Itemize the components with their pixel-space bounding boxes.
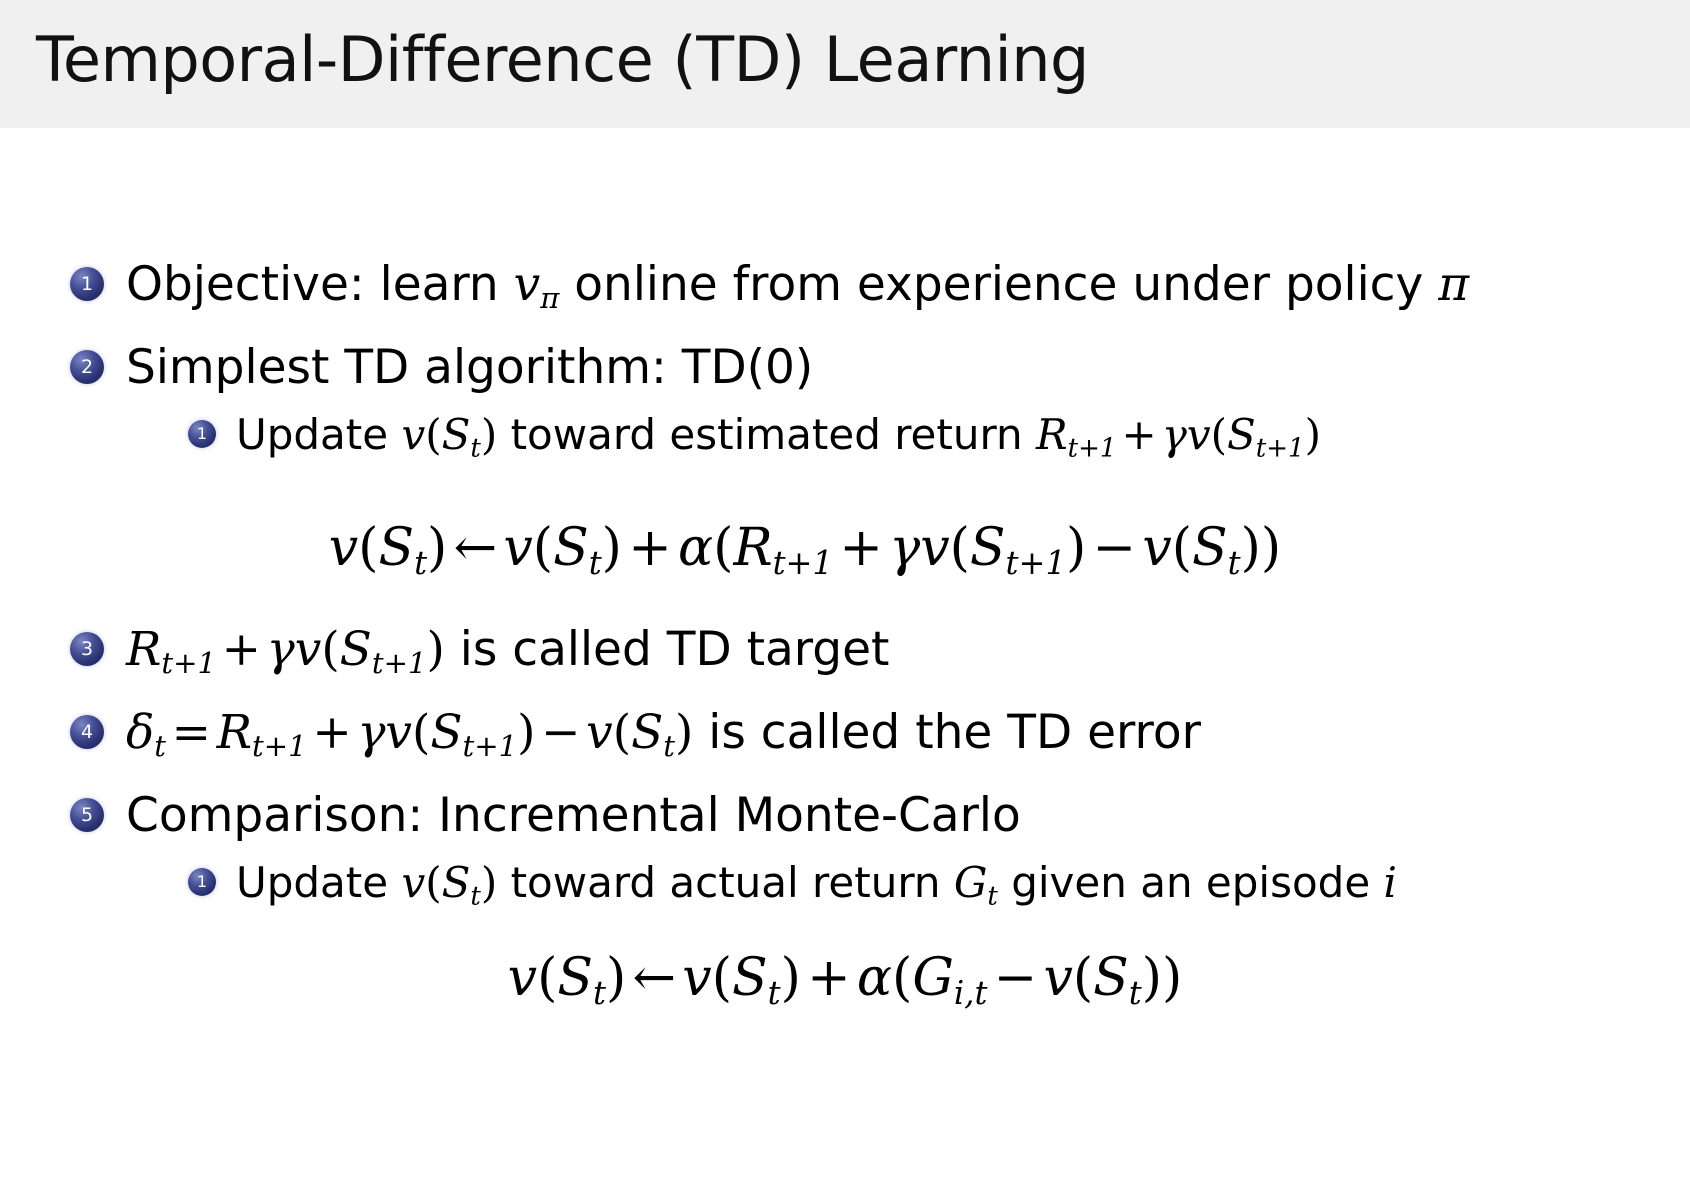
bullet-marker-sub-1: 1 bbox=[188, 420, 216, 448]
math-td-target: Rt+1+γv(St+1) bbox=[126, 622, 445, 677]
list-item-text: Simplest TD algorithm: TD(0) bbox=[126, 336, 813, 400]
text-segment: Objective: learn bbox=[126, 257, 514, 312]
bullet-marker-2: 2 bbox=[70, 350, 104, 384]
list-item-text: δt=Rt+1+γv(St+1)−v(St) is called the TD … bbox=[126, 701, 1201, 778]
math-gt: Gt bbox=[954, 858, 998, 907]
bullet-list: 1 Objective: learn vπ online from experi… bbox=[70, 253, 1630, 483]
list-item: 5 Comparison: Incremental Monte-Carlo bbox=[70, 784, 1630, 848]
math-v-st: v(St) bbox=[401, 858, 497, 907]
list-item-sub: 1 Update v(St) toward actual return Gt g… bbox=[188, 854, 1630, 925]
bullet-marker-4: 4 bbox=[70, 715, 104, 749]
bullet-marker-3: 3 bbox=[70, 632, 104, 666]
math-i: i bbox=[1384, 858, 1397, 907]
bullet-marker-sub-1: 1 bbox=[188, 868, 216, 896]
list-item: 3 Rt+1+γv(St+1) is called TD target bbox=[70, 618, 1630, 695]
bullet-marker-1: 1 bbox=[70, 267, 104, 301]
list-item: 1 Objective: learn vπ online from experi… bbox=[70, 253, 1630, 330]
text-segment: is called TD target bbox=[445, 622, 890, 677]
list-item: 2 Simplest TD algorithm: TD(0) bbox=[70, 336, 1630, 400]
list-item-text: Comparison: Incremental Monte-Carlo bbox=[126, 784, 1021, 848]
math-td-error: δt=Rt+1+γv(St+1)−v(St) bbox=[126, 705, 693, 760]
slide-title-bar: Temporal-Difference (TD) Learning bbox=[0, 0, 1690, 128]
math-v-st: v(St) bbox=[401, 410, 497, 459]
math-td-target: Rt+1+γv(St+1) bbox=[1036, 410, 1321, 459]
math-v-pi: vπ bbox=[514, 257, 560, 312]
text-segment: given an episode bbox=[998, 858, 1384, 907]
list-item-text: Update v(St) toward estimated return Rt+… bbox=[236, 406, 1321, 477]
text-segment: online from experience under policy bbox=[559, 257, 1438, 312]
text-segment: toward estimated return bbox=[497, 410, 1036, 459]
list-item-text: Objective: learn vπ online from experien… bbox=[126, 253, 1469, 330]
math-pi: π bbox=[1438, 257, 1469, 312]
display-equation-td: v(St)←v(St)+α(Rt+1+γv(St+1)−v(St)) bbox=[0, 513, 1610, 598]
text-segment: toward actual return bbox=[497, 858, 954, 907]
bullet-marker-5: 5 bbox=[70, 798, 104, 832]
list-item-sub: 1 Update v(St) toward estimated return R… bbox=[188, 406, 1630, 477]
list-item-text: Rt+1+γv(St+1) is called TD target bbox=[126, 618, 889, 695]
text-segment: Update bbox=[236, 858, 401, 907]
list-item: 4 δt=Rt+1+γv(St+1)−v(St) is called the T… bbox=[70, 701, 1630, 778]
text-segment: Update bbox=[236, 410, 401, 459]
bullet-list-2: 3 Rt+1+γv(St+1) is called TD target 4 δt… bbox=[70, 618, 1630, 932]
slide-content: 1 Objective: learn vπ online from experi… bbox=[0, 128, 1690, 1202]
text-segment: is called the TD error bbox=[693, 705, 1201, 760]
display-equation-mc: v(St)←v(St)+α(Gi,t−v(St)) bbox=[0, 943, 1690, 1028]
page-title: Temporal-Difference (TD) Learning bbox=[36, 20, 1089, 100]
list-item-text: Update v(St) toward actual return Gt giv… bbox=[236, 854, 1397, 925]
